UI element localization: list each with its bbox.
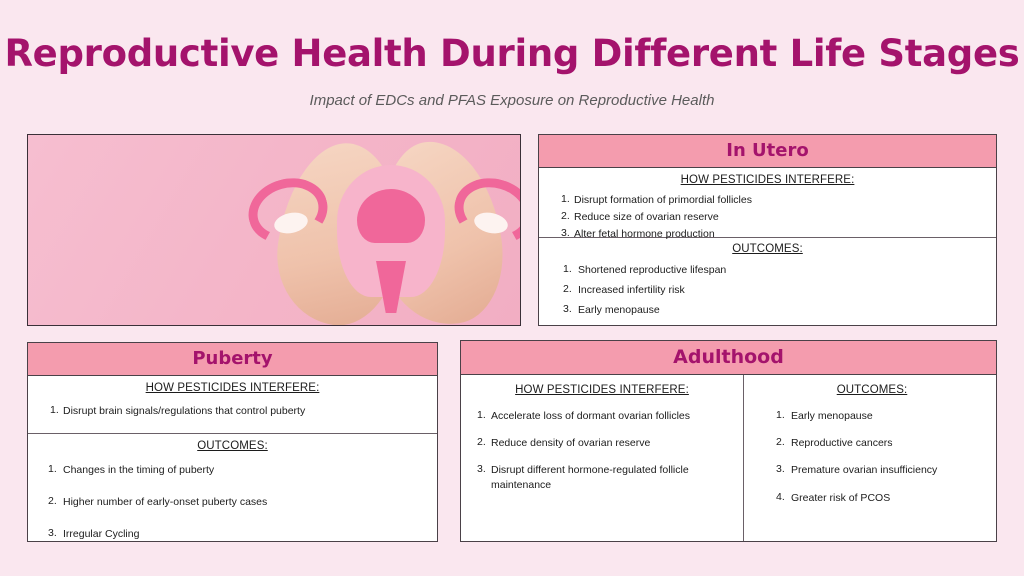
paper-uterus-illustration	[246, 157, 521, 317]
in-utero-outcomes-section: OUTCOMES: 1. Shortened reproductive life…	[539, 238, 996, 318]
list-item-text: Disrupt brain signals/regulations that c…	[63, 404, 305, 418]
list-item: 1. Disrupt formation of primordial folli…	[549, 193, 986, 207]
section-heading: HOW PESTICIDES INTERFERE:	[38, 382, 427, 394]
list-item: 3. Premature ovarian insufficiency	[758, 463, 986, 477]
list-item-text: Accelerate loss of dormant ovarian folli…	[491, 409, 690, 423]
list-item-text: Reduce size of ovarian reserve	[574, 210, 719, 224]
list-item-number: 2.	[776, 436, 791, 448]
list-item: 2. Higher number of early-onset puberty …	[38, 495, 427, 509]
panel-puberty: Puberty HOW PESTICIDES INTERFERE: 1. Dis…	[27, 342, 438, 542]
list-item-text: Increased infertility risk	[578, 283, 685, 297]
list-item-number: 3.	[561, 227, 574, 239]
list-item-text: Disrupt different hormone-regulated foll…	[491, 463, 733, 491]
panel-adulthood-title: Adulthood	[461, 341, 996, 375]
page-title: Reproductive Health During Different Lif…	[0, 32, 1024, 75]
list-item-text: Shortened reproductive lifespan	[578, 263, 726, 277]
list-item: 3. Early menopause	[549, 303, 986, 317]
fallopian-tube-left-icon	[241, 169, 336, 253]
list-item: 2. Increased infertility risk	[549, 283, 986, 297]
list-item-number: 2.	[561, 210, 574, 222]
list-item: 2. Reduce size of ovarian reserve	[549, 210, 986, 224]
list-item-number: 3.	[776, 463, 791, 475]
list-item-text: Reduce density of ovarian reserve	[491, 436, 650, 450]
list-item: 1. Early menopause	[758, 409, 986, 423]
adulthood-interfere-section: HOW PESTICIDES INTERFERE: 1. Accelerate …	[461, 375, 744, 541]
list-item-number: 1.	[48, 463, 63, 475]
list-item: 2. Reduce density of ovarian reserve	[471, 436, 733, 450]
adulthood-columns: HOW PESTICIDES INTERFERE: 1. Accelerate …	[461, 375, 996, 541]
uterus-cavity-shape	[357, 189, 425, 243]
section-heading: OUTCOMES:	[758, 384, 986, 396]
list-item-text: Premature ovarian insufficiency	[791, 463, 937, 477]
panel-adulthood: Adulthood HOW PESTICIDES INTERFERE: 1. A…	[460, 340, 997, 542]
in-utero-interfere-section: HOW PESTICIDES INTERFERE: 1. Disrupt for…	[539, 168, 996, 238]
list-item: 1. Shortened reproductive lifespan	[549, 263, 986, 277]
list-item-number: 3.	[563, 303, 578, 315]
list-item-number: 2.	[477, 436, 491, 448]
list-item-number: 1.	[50, 404, 63, 416]
list-item-text: Greater risk of PCOS	[791, 491, 890, 505]
uterus-photo-panel	[27, 134, 521, 326]
list-item-number: 1.	[563, 263, 578, 275]
adulthood-outcomes-section: OUTCOMES: 1. Early menopause 2. Reproduc…	[744, 375, 996, 541]
section-heading: HOW PESTICIDES INTERFERE:	[471, 384, 733, 396]
section-heading: OUTCOMES:	[549, 243, 986, 255]
list-item: 3. Disrupt different hormone-regulated f…	[471, 463, 733, 491]
panel-in-utero-title: In Utero	[539, 135, 996, 168]
list-item-text: Irregular Cycling	[63, 527, 139, 541]
section-heading: HOW PESTICIDES INTERFERE:	[549, 174, 986, 186]
list-item-number: 3.	[48, 527, 63, 539]
list-item-number: 1.	[561, 193, 574, 205]
list-item: 2. Reproductive cancers	[758, 436, 986, 450]
fallopian-tube-right-icon	[447, 169, 521, 253]
puberty-interfere-section: HOW PESTICIDES INTERFERE: 1. Disrupt bra…	[28, 376, 437, 434]
list-item-text: Alter fetal hormone production	[574, 227, 715, 241]
list-item: 1. Accelerate loss of dormant ovarian fo…	[471, 409, 733, 423]
list-item-text: Reproductive cancers	[791, 436, 893, 450]
list-item: 1. Changes in the timing of puberty	[38, 463, 427, 477]
list-item-text: Changes in the timing of puberty	[63, 463, 214, 477]
panel-puberty-title: Puberty	[28, 343, 437, 376]
list-item: 4. Greater risk of PCOS	[758, 491, 986, 505]
section-heading: OUTCOMES:	[38, 440, 427, 452]
list-item: 1. Disrupt brain signals/regulations tha…	[38, 404, 427, 418]
list-item-text: Early menopause	[791, 409, 873, 423]
list-item-number: 2.	[48, 495, 63, 507]
puberty-outcomes-section: OUTCOMES: 1. Changes in the timing of pu…	[28, 434, 437, 542]
list-item-number: 1.	[477, 409, 491, 421]
list-item-text: Higher number of early-onset puberty cas…	[63, 495, 267, 509]
list-item: 3. Irregular Cycling	[38, 527, 427, 541]
list-item-number: 3.	[477, 463, 491, 475]
list-item-number: 4.	[776, 491, 791, 503]
list-item-number: 1.	[776, 409, 791, 421]
list-item-text: Disrupt formation of primordial follicle…	[574, 193, 752, 207]
page-subtitle: Impact of EDCs and PFAS Exposure on Repr…	[0, 92, 1024, 109]
list-item-number: 2.	[563, 283, 578, 295]
panel-in-utero: In Utero HOW PESTICIDES INTERFERE: 1. Di…	[538, 134, 997, 326]
list-item-text: Early menopause	[578, 303, 660, 317]
